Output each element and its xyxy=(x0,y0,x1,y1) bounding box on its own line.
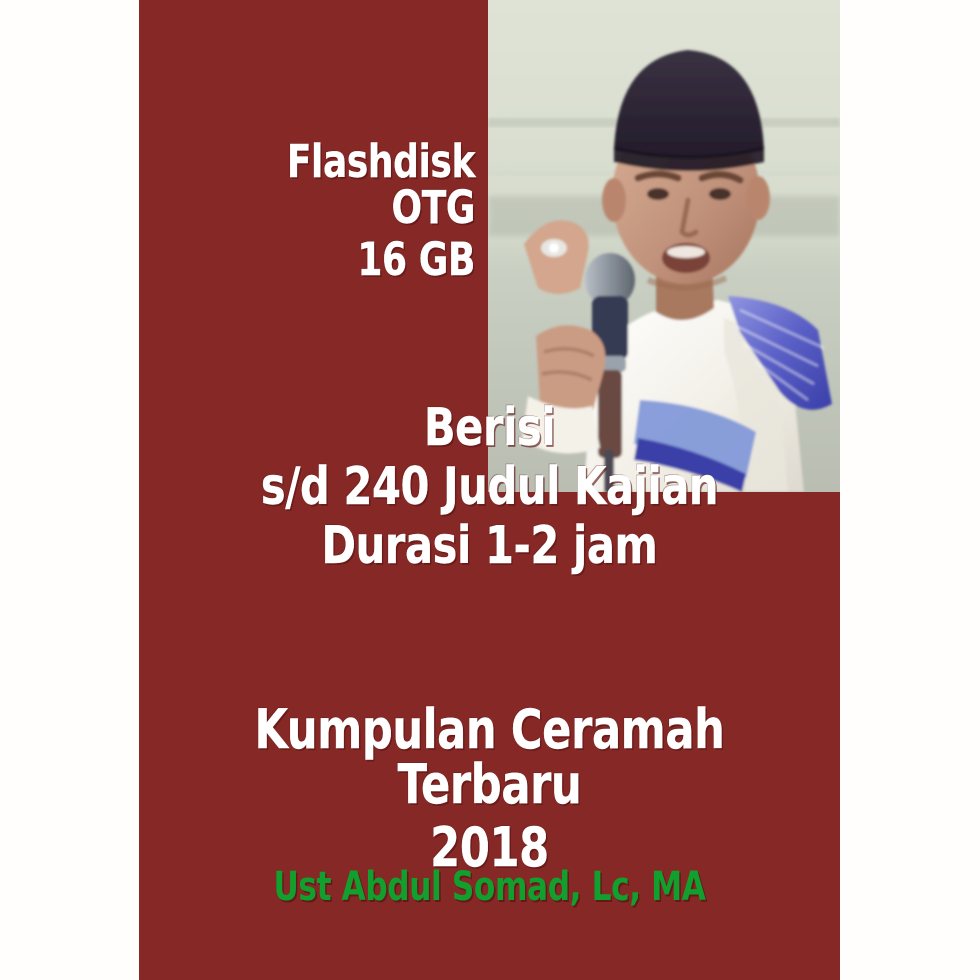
poster-text-layer: Flashdisk OTG 16 GB Berisi s/d 240 Judul… xyxy=(139,0,840,980)
collection-title: Kumpulan Ceramah Terbaru xyxy=(209,702,770,812)
contents-block: Berisi s/d 240 Judul Kajian Durasi 1-2 j… xyxy=(209,402,770,579)
contents-duration: Durasi 1-2 jam xyxy=(209,520,770,573)
collection-block: Kumpulan Ceramah Terbaru 2018 xyxy=(209,702,770,883)
contents-count: s/d 240 Judul Kajian xyxy=(209,461,770,514)
author-name: Ust Abdul Somad, Lc, MA xyxy=(216,864,763,910)
product-capacity: 16 GB xyxy=(206,237,475,283)
product-name: Flashdisk OTG xyxy=(287,135,475,234)
contents-label: Berisi xyxy=(209,402,770,455)
product-poster: Flashdisk OTG 16 GB Berisi s/d 240 Judul… xyxy=(0,0,980,980)
product-title-block: Flashdisk OTG 16 GB xyxy=(206,139,475,283)
